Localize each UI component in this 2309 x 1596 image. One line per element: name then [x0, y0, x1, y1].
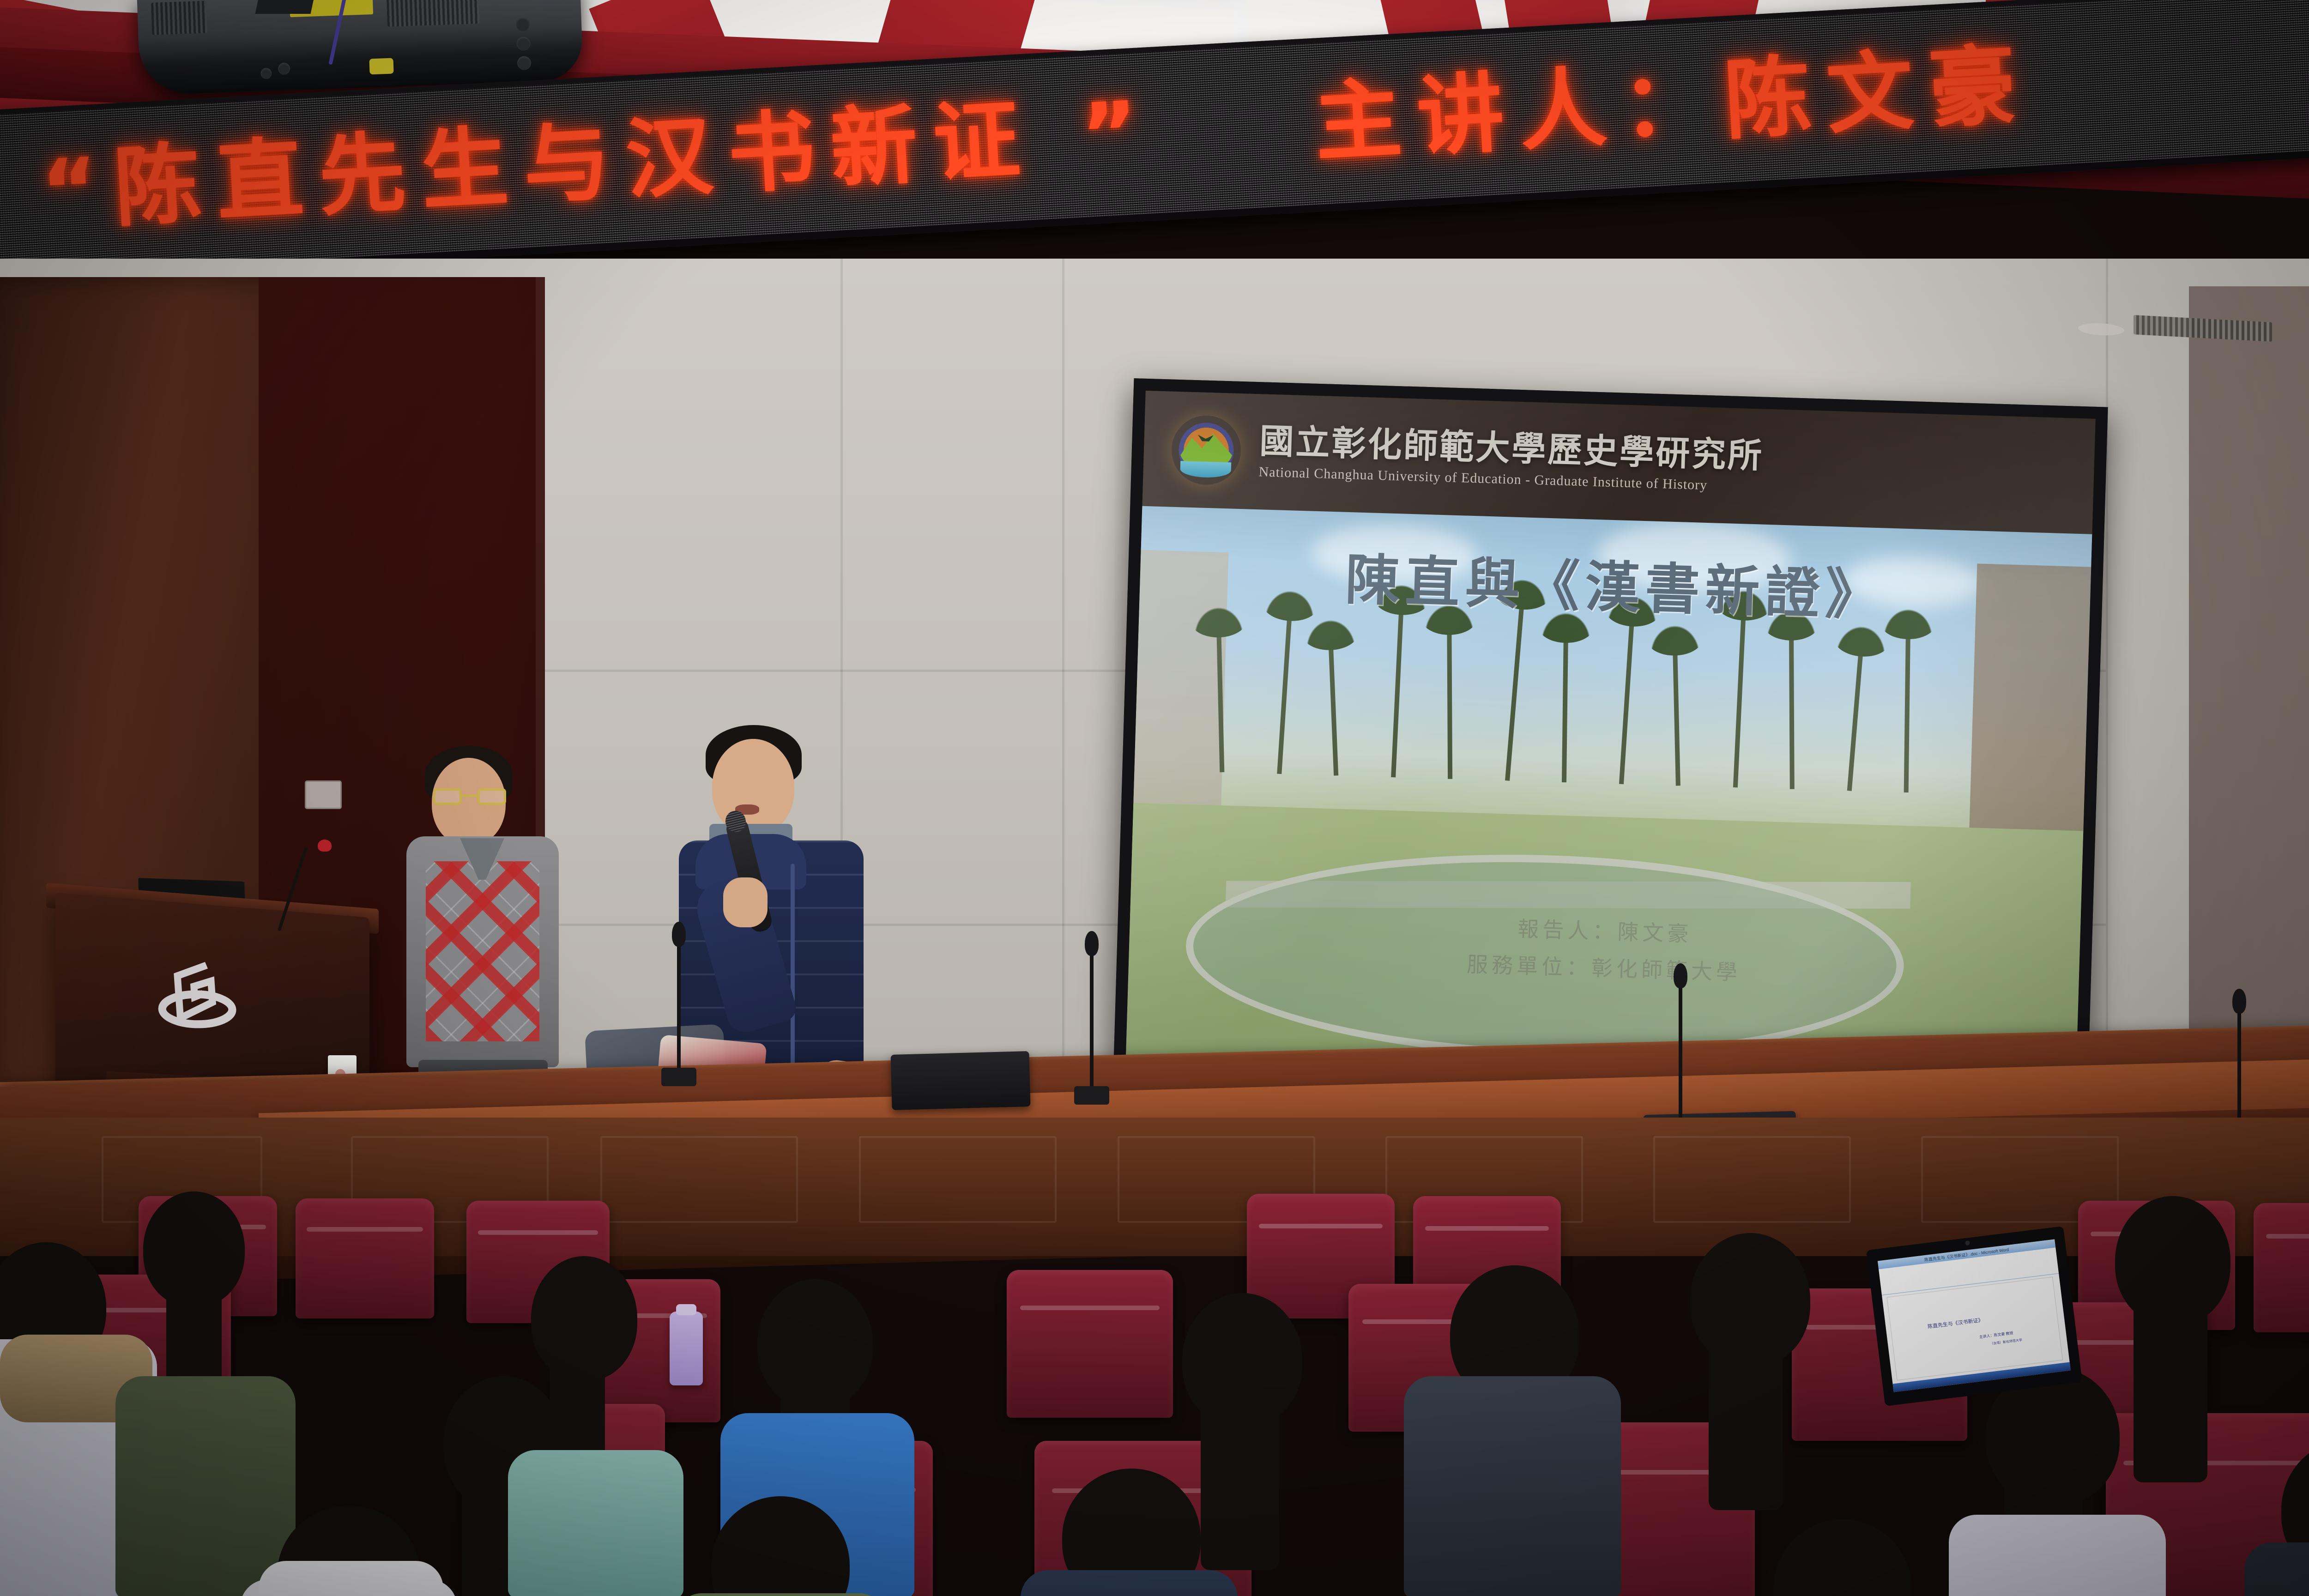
gooseneck-microphone [1679, 984, 1682, 1127]
theater-seat[interactable] [296, 1198, 434, 1318]
speaker-hand [723, 877, 768, 927]
projector-knob [260, 68, 272, 79]
microphone-base [661, 1068, 696, 1086]
speaker-head [712, 739, 794, 835]
microphone-base [1074, 1086, 1109, 1105]
laptop-screen: 陈直先生与《汉书新证》.doc - Microsoft Word 陈直先生与《汉… [1878, 1239, 2071, 1392]
eyeglasses-icon [433, 788, 506, 805]
theater-seat[interactable] [2254, 1203, 2309, 1332]
lecture-hall-photo: “陈直先生与汉书新证 ” 主讲人：陈文豪 國立彰化師範大學歷史學研究所 Nati… [0, 0, 2309, 1596]
projector-knob [517, 56, 532, 70]
word-doc-byline-secondary: （台湾）彰化师范大学 [1990, 1338, 2023, 1346]
projector-knob [516, 17, 530, 31]
projector-vent [387, 0, 480, 27]
thermos-bottle [670, 1312, 703, 1385]
host-argyle-sweater [426, 861, 539, 1041]
projector-knob [516, 36, 531, 51]
projector-mount [255, 0, 318, 14]
right-wood-trim [2189, 286, 2309, 1071]
word-document-page: 陈直先生与《汉书新证》 主讲人：陈文豪 教授 （台湾）彰化师范大学 [1887, 1277, 2063, 1381]
podium-emblem-icon [150, 951, 243, 1039]
led-banner-speaker: 主讲人：陈文豪 [1312, 34, 2034, 174]
projector-vent [151, 1, 207, 35]
podium-microphone-tip [318, 840, 332, 852]
led-banner-title: “陈直先生与汉书新证 ” [39, 82, 1157, 243]
changhua-university-emblem-icon [1171, 415, 1242, 486]
gooseneck-microphone [677, 942, 681, 1071]
laptop-webcam-icon [1965, 1240, 1970, 1245]
word-doc-byline: 主讲人：陈文豪 教授 [1979, 1330, 2013, 1340]
projector-knob [278, 62, 290, 75]
wall-light-switch[interactable] [305, 780, 342, 809]
projector-plug [369, 58, 393, 75]
word-doc-title: 陈直先生与《汉书新证》 [1927, 1316, 1983, 1330]
conference-chair [890, 1051, 1030, 1110]
audience-laptop[interactable]: 陈直先生与《汉书新证》.doc - Microsoft Word 陈直先生与《汉… [1866, 1226, 2082, 1406]
gooseneck-microphone [1090, 951, 1094, 1090]
wall-seam [1062, 259, 1064, 1173]
theater-seat[interactable] [1007, 1270, 1173, 1418]
person-host [406, 746, 559, 1111]
